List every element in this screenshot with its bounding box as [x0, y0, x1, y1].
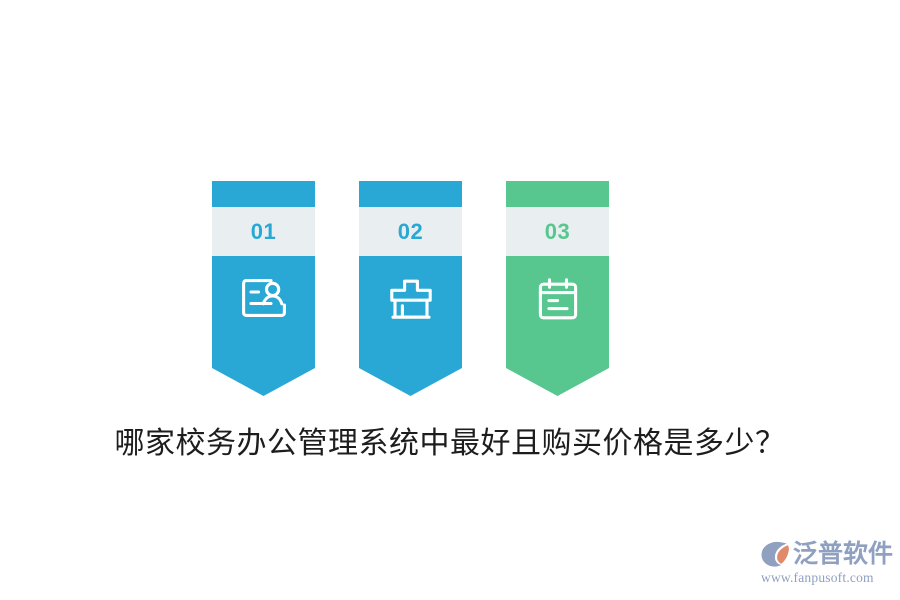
banner-row: 01 — [212, 181, 610, 396]
banner-01[interactable]: 01 — [212, 181, 315, 396]
banner-03-body — [506, 256, 609, 396]
banner-02-number: 02 — [398, 221, 423, 243]
notepad-icon — [506, 278, 609, 320]
banner-01-cap — [212, 181, 315, 207]
school-building-icon — [359, 278, 462, 320]
brand-url: www.fanpusoft.com — [761, 570, 874, 586]
brand-name: 泛普软件 — [793, 542, 893, 567]
page-title: 哪家校务办公管理系统中最好且购买价格是多少？ — [0, 424, 900, 464]
banner-03-cap — [506, 181, 609, 207]
banner-03-number-band: 03 — [506, 207, 609, 256]
page-canvas: 01 — [0, 0, 900, 600]
fanpu-swoosh-logo-icon — [760, 540, 790, 568]
brand-logo: 泛普软件 www.fanpusoft.com — [760, 539, 892, 586]
id-card-person-icon — [212, 278, 315, 318]
banner-02-body — [359, 256, 462, 396]
banner-01-number-band: 01 — [212, 207, 315, 256]
brand-logo-row: 泛普软件 — [760, 539, 893, 569]
banner-03-number: 03 — [545, 221, 570, 243]
banner-01-number: 01 — [251, 221, 276, 243]
banner-03[interactable]: 03 — [506, 181, 609, 396]
banner-01-body — [212, 256, 315, 396]
banner-02-number-band: 02 — [359, 207, 462, 256]
banner-02[interactable]: 02 — [359, 181, 462, 396]
banner-02-cap — [359, 181, 462, 207]
